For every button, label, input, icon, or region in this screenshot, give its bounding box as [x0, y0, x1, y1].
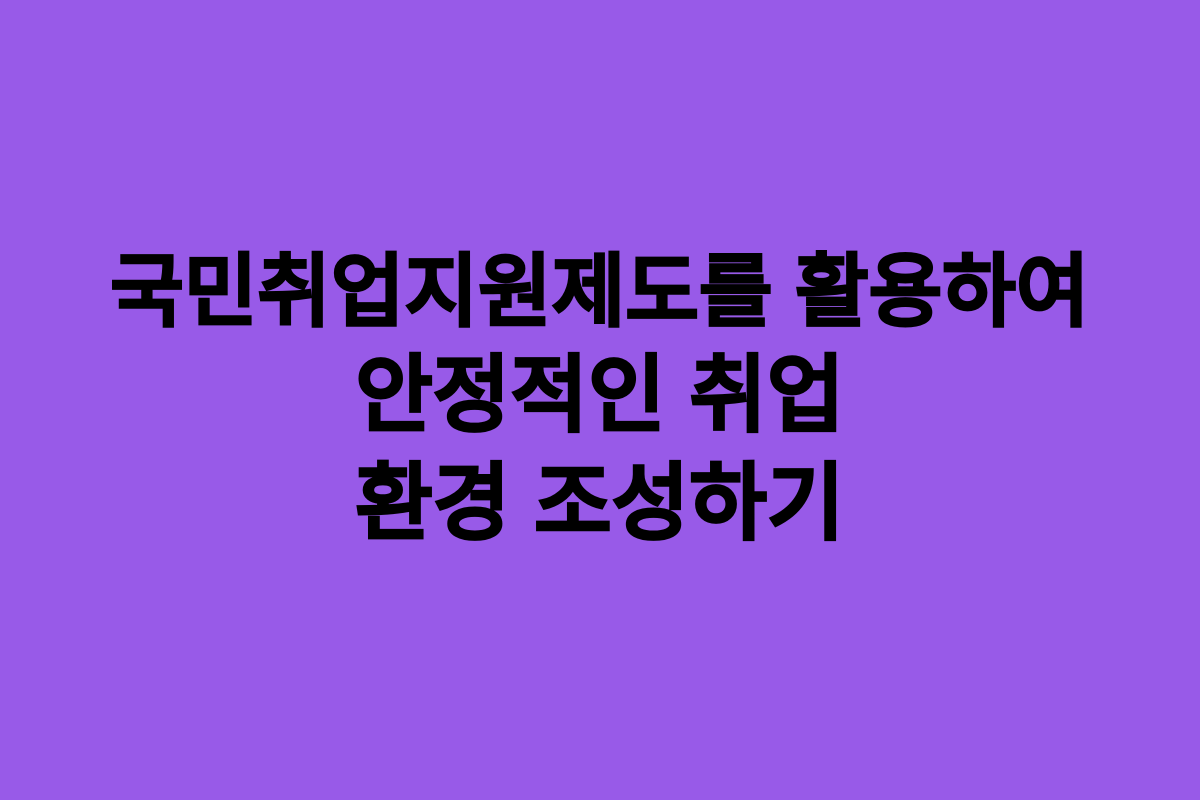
- headline-line-2: 안정적인 취업: [20, 342, 1180, 450]
- headline-line-1: 국민취업지원제도를 활용하여: [20, 241, 1180, 343]
- headline-line-3: 환경 조성하기: [20, 450, 1180, 558]
- headline: 국민취업지원제도를 활용하여 안정적인 취업 환경 조성하기: [20, 241, 1180, 558]
- thumbnail-card: 국민취업지원제도를 활용하여 안정적인 취업 환경 조성하기: [0, 0, 1200, 800]
